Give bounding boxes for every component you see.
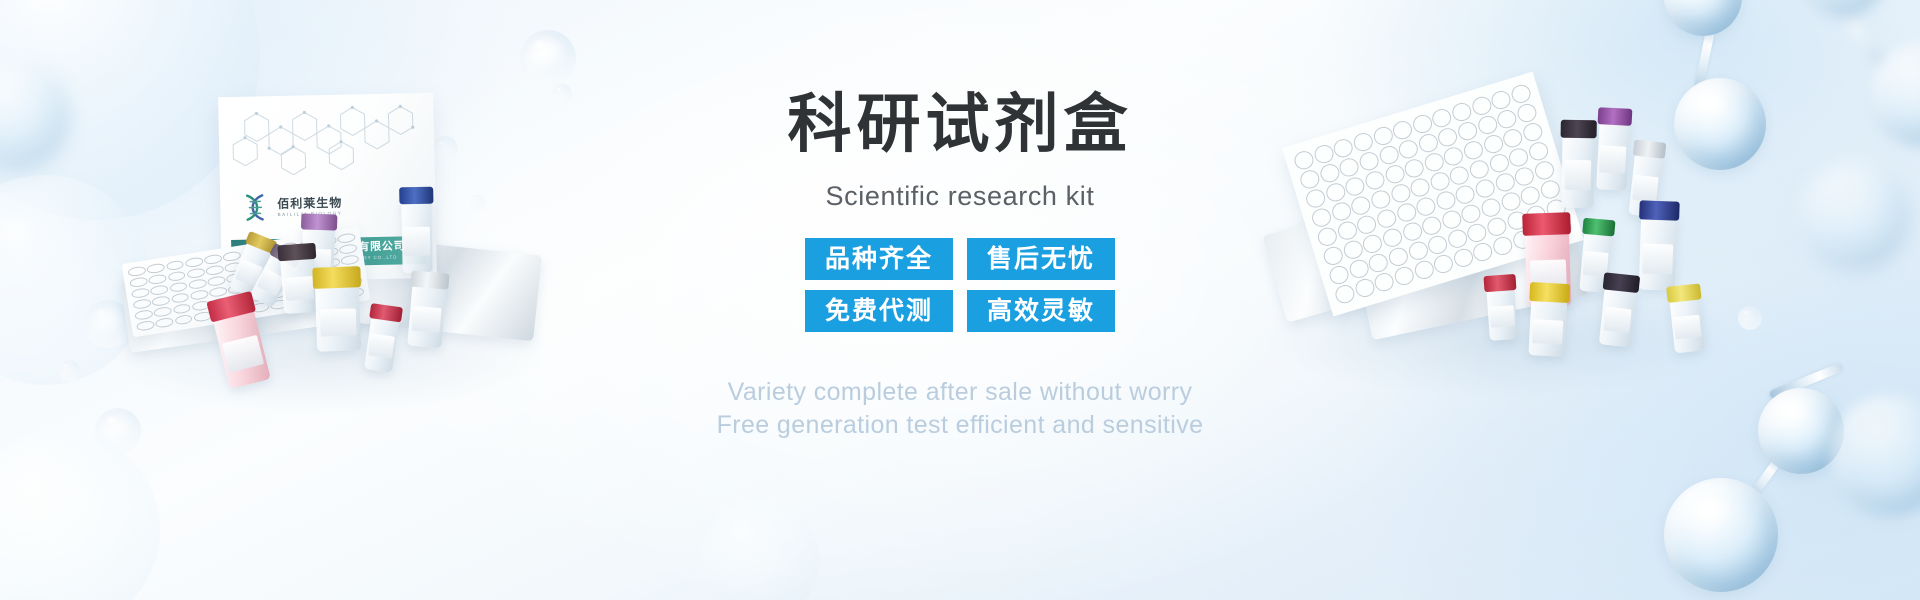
well <box>1408 176 1432 199</box>
well <box>129 276 148 288</box>
well <box>1495 108 1519 131</box>
well <box>136 320 155 332</box>
well <box>190 289 209 301</box>
well <box>340 254 359 266</box>
well <box>1462 139 1486 162</box>
well <box>1446 227 1470 250</box>
vial-dark-charcoal <box>1561 130 1594 209</box>
feature-badge-variety[interactable]: 品种齐全 <box>805 238 953 280</box>
well <box>1381 226 1405 249</box>
well <box>1485 215 1509 238</box>
well <box>1411 113 1435 136</box>
well <box>1406 239 1430 262</box>
well <box>1468 158 1492 181</box>
dna-helix-icon <box>240 192 271 223</box>
page-title: 科研试剂盒 <box>560 92 1360 156</box>
well <box>1414 195 1438 218</box>
bubble-center-bottom <box>700 500 820 600</box>
well <box>1491 234 1515 257</box>
well <box>171 292 190 304</box>
well <box>169 281 188 293</box>
vial-clear-far-right <box>1669 293 1705 354</box>
well <box>1471 240 1495 263</box>
well <box>1426 233 1450 256</box>
well <box>1392 264 1416 287</box>
molecule-left-blurred <box>0 60 120 220</box>
well <box>1373 270 1397 293</box>
well <box>1422 151 1446 174</box>
well <box>1482 133 1506 156</box>
well <box>1397 138 1421 161</box>
vial-red-small <box>1486 283 1518 341</box>
well <box>207 275 226 287</box>
well <box>1499 190 1523 213</box>
well <box>1470 95 1494 118</box>
well <box>1430 107 1454 130</box>
bubble-center-top <box>520 30 576 86</box>
well <box>1476 114 1500 137</box>
well <box>1357 150 1381 173</box>
tagline-group: Variety complete after sale without worr… <box>560 376 1360 442</box>
well <box>1377 144 1401 167</box>
well <box>1465 221 1489 244</box>
hexagon-pattern-icon <box>218 99 435 195</box>
well <box>1442 145 1466 168</box>
well <box>1386 245 1410 268</box>
feature-badge-sensitive[interactable]: 高效灵敏 <box>967 290 1115 332</box>
well <box>1412 258 1436 281</box>
well <box>1479 196 1503 219</box>
well <box>1521 121 1545 144</box>
well <box>166 260 185 272</box>
well <box>146 263 165 275</box>
promo-banner: 佰利莱生物 BAILILAI BIOLOGY 上海佰利莱生物科技有限公司 SHA… <box>0 0 1920 600</box>
well <box>1448 164 1472 187</box>
well <box>174 313 193 325</box>
well <box>337 232 356 244</box>
feature-badge-freetest[interactable]: 免费代测 <box>805 290 953 332</box>
vial-yellow <box>315 278 361 351</box>
well <box>1456 120 1480 143</box>
well <box>1454 183 1478 206</box>
well <box>1450 101 1474 124</box>
well <box>148 273 167 285</box>
vial-black <box>1599 282 1637 347</box>
well <box>152 295 171 307</box>
well <box>1501 127 1525 150</box>
well <box>1440 208 1464 231</box>
well <box>1416 132 1440 155</box>
well <box>153 306 172 318</box>
well <box>1436 126 1460 149</box>
well <box>1519 184 1543 207</box>
well <box>150 284 169 296</box>
tagline-line-2: Free generation test efficient and sensi… <box>560 409 1360 442</box>
well <box>1527 140 1551 163</box>
bubble-bottom-left <box>95 408 141 454</box>
well <box>204 254 223 266</box>
well <box>1400 220 1424 243</box>
well <box>1428 170 1452 193</box>
feature-badge-group: 品种齐全 售后无忧 免费代测 高效灵敏 <box>805 238 1115 342</box>
well <box>1403 157 1427 180</box>
well <box>134 309 153 321</box>
vial-navy <box>1639 211 1678 290</box>
well <box>1451 246 1475 269</box>
well <box>1487 152 1511 175</box>
well <box>1533 159 1557 182</box>
banner-text-block: 科研试剂盒 Scientific research kit 品种齐全 售后无忧 … <box>560 92 1360 442</box>
right-product-group <box>1280 88 1880 388</box>
well <box>1434 189 1458 212</box>
vial-yellow <box>1528 293 1567 357</box>
feature-badge-row-2: 免费代测 高效灵敏 <box>805 290 1115 332</box>
well <box>186 267 205 279</box>
left-product-group: 佰利莱生物 BAILILAI BIOLOGY 上海佰利莱生物科技有限公司 SHA… <box>110 95 550 370</box>
well <box>1432 252 1456 275</box>
well <box>1395 201 1419 224</box>
molecule-far-bottom-right-blurred <box>1830 395 1920 595</box>
well <box>167 270 186 282</box>
well <box>1367 251 1391 274</box>
well <box>1383 163 1407 186</box>
feature-badge-aftersale[interactable]: 售后无忧 <box>967 238 1115 280</box>
well <box>1389 182 1413 205</box>
well <box>1473 177 1497 200</box>
well <box>209 286 228 298</box>
brand-name-cn: 佰利莱生物 <box>277 196 342 209</box>
well <box>131 287 150 299</box>
well <box>185 257 204 269</box>
well <box>188 278 207 290</box>
well <box>1363 169 1387 192</box>
well <box>1538 178 1562 201</box>
well <box>172 303 191 315</box>
well <box>205 264 224 276</box>
well <box>1513 165 1537 188</box>
well <box>339 243 358 255</box>
feature-badge-row-1: 品种齐全 售后无忧 <box>805 238 1115 280</box>
tagline-line-1: Variety complete after sale without worr… <box>560 376 1360 409</box>
bubble-left-tiny <box>58 360 80 382</box>
vial-blue <box>401 197 432 274</box>
well <box>1361 232 1385 255</box>
well <box>1460 202 1484 225</box>
vial-violet <box>1596 117 1630 190</box>
well <box>1515 102 1539 125</box>
bubble-bottom-left-large <box>0 430 160 600</box>
well <box>1391 119 1415 142</box>
page-subtitle: Scientific research kit <box>560 181 1360 212</box>
well <box>1375 207 1399 230</box>
well <box>1493 171 1517 194</box>
well <box>1507 146 1531 169</box>
well <box>1371 125 1395 148</box>
well <box>1509 82 1533 105</box>
well <box>127 266 146 278</box>
well <box>1490 89 1514 112</box>
well <box>1420 214 1444 237</box>
well <box>155 316 174 328</box>
well <box>133 298 152 310</box>
vial-clear-right <box>407 280 447 349</box>
well <box>1369 188 1393 211</box>
